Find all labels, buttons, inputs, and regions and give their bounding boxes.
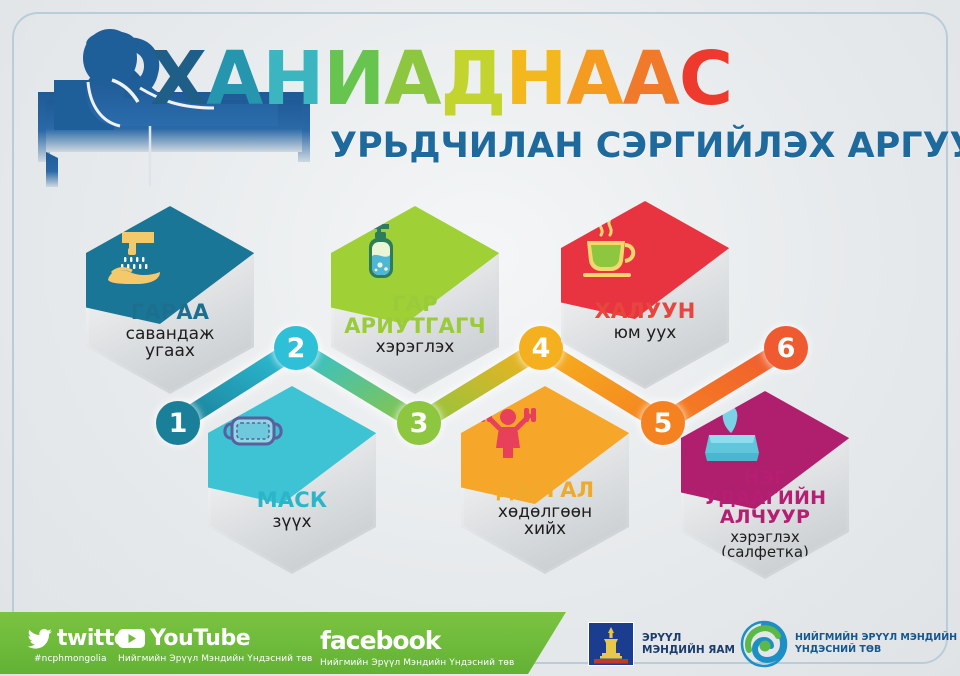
step-title: ХАЛУУН — [567, 301, 723, 323]
step-subtitle: хэрэглэх — [337, 339, 493, 357]
org-name-line1: ЭРҮҮЛ — [642, 632, 735, 644]
youtube-play-icon — [118, 629, 145, 648]
social-handle-label: Нийгмийн Эрүүл Мэндийн Үндэсний төв — [320, 658, 514, 668]
title-letter: С — [679, 38, 732, 120]
step-number-5: 5 — [641, 401, 685, 445]
step-title-group: ХАЛУУН юм уух — [567, 301, 723, 342]
title-letter: А — [623, 38, 679, 120]
step-title: НЭГУДААГИЙНАЛЧУУР — [687, 469, 843, 528]
step-subtitle: савандажугаах — [92, 326, 248, 361]
social-youtube[interactable]: YouTube Нийгмийн Эрүүл Мэндийн Үндэсний … — [118, 626, 312, 664]
title-letter: Н — [505, 38, 566, 120]
step-title: МАСК — [214, 490, 370, 512]
ministry-of-health-emblem-icon — [588, 622, 634, 666]
org-name-line1: НИЙГМИЙН ЭРҮҮЛ МЭНДИЙН — [795, 632, 957, 644]
step-title-group: МАСК зүүх — [214, 490, 370, 531]
step-subtitle: зүүх — [214, 514, 370, 532]
facebook-wordmark-icon: facebook — [320, 626, 514, 655]
title-letter: А — [206, 38, 262, 120]
title-letter: Х — [150, 38, 206, 120]
step-subtitle: хөдөлгөөнхийх — [467, 504, 623, 539]
social-brand-label: YouTube — [150, 626, 250, 651]
infographic-poster: ХАНИАДНААС УРЬДЧИЛАН СЭРГИЙЛЭХ АРГУУД — [0, 0, 960, 676]
poster-footer: twitter #ncphmongolia YouTube Нийгмийн Э… — [0, 608, 960, 676]
step-title: ДАСГАЛ — [467, 480, 623, 502]
org-name-line2: МЭНДИЙН ЯАМ — [642, 644, 735, 656]
step-number-4: 4 — [519, 326, 563, 370]
org-ministry-of-health: ЭРҮҮЛ МЭНДИЙН ЯАМ — [588, 622, 735, 666]
page-subtitle: УРЬДЧИЛАН СЭРГИЙЛЭХ АРГУУД — [330, 126, 930, 166]
step-title-group: ГАРАРИУТГАГЧ хэрэглэх — [337, 294, 493, 357]
step-title: ГАРАА — [92, 302, 248, 324]
org-name-line2: ҮНДЭСНИЙ ТӨВ — [795, 644, 957, 656]
step-title-group: НЭГУДААГИЙНАЛЧУУР хэрэглэх(салфетка) — [687, 469, 843, 561]
step-number-6: 6 — [764, 326, 808, 370]
ncph-swirl-logo-icon — [740, 620, 788, 668]
social-facebook[interactable]: facebook Нийгмийн Эрүүл Мэндийн Үндэсний… — [320, 626, 514, 668]
step-subtitle: юм уух — [567, 325, 723, 343]
title-letter: А — [384, 38, 440, 120]
social-handle-label: Нийгмийн Эрүүл Мэндийн Үндэсний төв — [118, 654, 312, 664]
step-subtitle: хэрэглэх(салфетка) — [687, 530, 843, 561]
step-title-group: ГАРАА савандажугаах — [92, 302, 248, 361]
step-number-2: 2 — [274, 326, 318, 370]
page-title: ХАНИАДНААС — [150, 38, 830, 120]
title-letter: Д — [441, 38, 506, 120]
step-number-3: 3 — [397, 401, 441, 445]
step-number-1: 1 — [156, 401, 200, 445]
twitter-bird-icon — [26, 628, 52, 650]
title-letter: И — [323, 38, 384, 120]
title-letter: Н — [262, 38, 323, 120]
step-title: ГАРАРИУТГАГЧ — [337, 294, 493, 337]
step-title-group: ДАСГАЛ хөдөлгөөнхийх — [467, 480, 623, 539]
poster-header: ХАНИАДНААС УРЬДЧИЛАН СЭРГИЙЛЭХ АРГУУД — [0, 0, 960, 205]
org-ncph: НИЙГМИЙН ЭРҮҮЛ МЭНДИЙН ҮНДЭСНИЙ ТӨВ — [740, 620, 957, 668]
title-letter: А — [566, 38, 622, 120]
